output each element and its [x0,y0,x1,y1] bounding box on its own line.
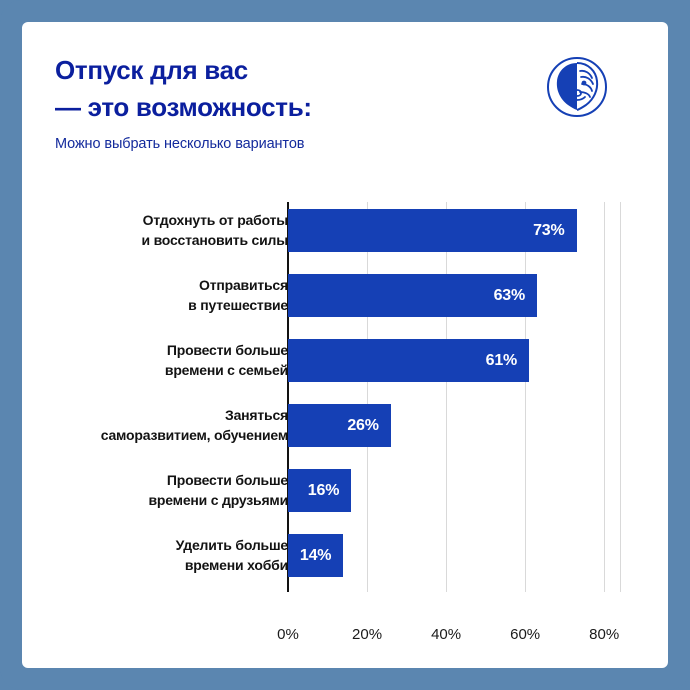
title-line-2: — это возможность: [55,89,505,126]
bar-value-label: 14% [291,534,331,577]
x-tick-label: 60% [510,626,540,643]
category-label: Провести большевремени с семьей [36,341,288,380]
bar-chart: 73%63%61%26%16%14% 0%20%40%60%80% Отдохн… [22,172,668,668]
category-label-line: времени с друзьями [36,491,288,510]
bar-value-label: 16% [299,469,339,512]
bar-value-label: 61% [477,339,517,382]
category-label-line: Провести больше [36,471,288,490]
bars-container: 73%63%61%26%16%14% [288,202,620,592]
category-label-line: Отдохнуть от работы [36,211,288,230]
category-label-line: Заняться [36,406,288,425]
category-label: Отдохнуть от работыи восстановить силы [36,211,288,250]
bar-value-label: 26% [339,404,379,447]
x-tick-label: 40% [431,626,461,643]
x-tick-label: 0% [277,626,299,643]
category-label: Уделить большевремени хобби [36,536,288,575]
lion-head-emblem-logo [546,56,608,118]
bar-row[interactable]: 16% [288,469,620,512]
bar-row[interactable]: 14% [288,534,620,577]
gridline [620,202,621,592]
category-label-line: времени с семьей [36,361,288,380]
outer-frame: Отпуск для вас — это возможность: Можно … [0,0,690,690]
plot-area: 73%63%61%26%16%14% 0%20%40%60%80% [288,202,620,592]
page-subtitle: Можно выбрать несколько вариантов [55,136,304,152]
category-label: Провести большевремени с друзьями [36,471,288,510]
page-title: Отпуск для вас — это возможность: [55,52,505,126]
bar-row[interactable]: 61% [288,339,620,382]
category-label: Занятьсясаморазвитием, обучением [36,406,288,445]
bar-row[interactable]: 73% [288,209,620,252]
x-tick-label: 20% [352,626,382,643]
category-label-line: и восстановить силы [36,231,288,250]
bar-row[interactable]: 26% [288,404,620,447]
header: Отпуск для вас — это возможность: Можно … [22,22,668,172]
bar-value-label: 63% [485,274,525,317]
title-line-1: Отпуск для вас [55,52,505,89]
category-label-line: Провести больше [36,341,288,360]
category-label-line: времени хобби [36,556,288,575]
category-label-line: в путешествие [36,296,288,315]
category-label: Отправитьсяв путешествие [36,276,288,315]
category-label-line: саморазвитием, обучением [36,426,288,445]
infographic-card: Отпуск для вас — это возможность: Можно … [22,22,668,668]
category-label-line: Отправиться [36,276,288,295]
category-label-line: Уделить больше [36,536,288,555]
bar-row[interactable]: 63% [288,274,620,317]
x-tick-label: 80% [589,626,619,643]
bar-value-label: 73% [525,209,565,252]
